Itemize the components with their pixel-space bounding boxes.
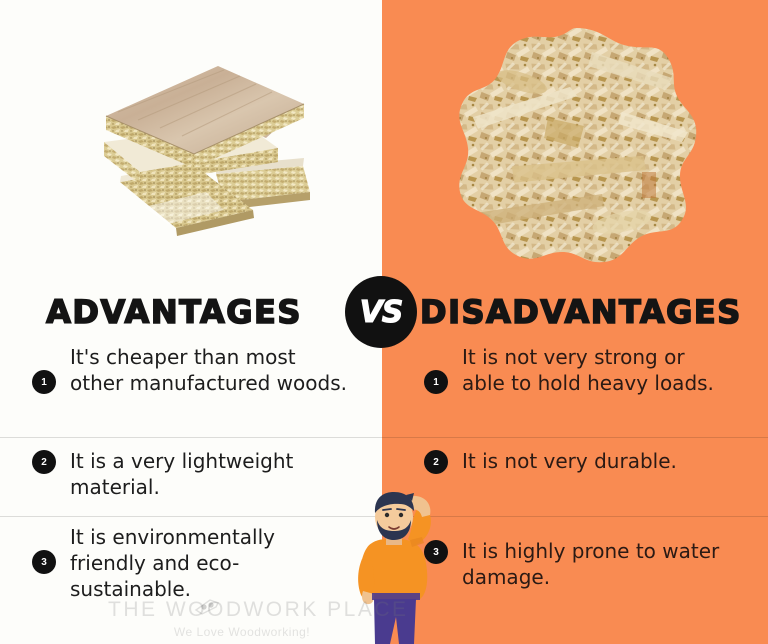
item-number-badge: 3 [32,550,56,574]
item-text: It is environmentally friendly and eco-s… [70,524,352,602]
item-number-badge: 2 [424,450,448,474]
item-number-badge: 2 [32,450,56,474]
man-scratching-head-illustration [344,487,448,644]
item-number-badge: 1 [32,370,56,394]
list-item: 2 It is a very lightweight material. [32,448,352,500]
list-item: 1 It's cheaper than most other manufactu… [32,344,352,396]
item-text: It is not very durable. [462,448,677,474]
infographic-canvas: ADVANTAGES VS DISADVANTAGES 1 It's cheap… [0,0,768,644]
list-item: 3 It is environmentally friendly and eco… [32,524,352,602]
item-text: It is a very lightweight material. [70,448,352,500]
item-text: It is not very strong or able to hold he… [462,344,724,396]
item-number-badge: 1 [424,370,448,394]
item-text: It's cheaper than most other manufacture… [70,344,352,396]
disadvantages-heading: DISADVANTAGES [420,286,750,338]
list-item: 3 It is highly prone to water damage. [424,538,724,590]
list-item: 1 It is not very strong or able to hold … [424,344,724,396]
list-item: 2 It is not very durable. [424,448,724,474]
vs-badge: VS [345,276,417,348]
osb-board-image [452,22,700,270]
row-separator-1 [0,437,768,438]
item-text: It is highly prone to water damage. [462,538,724,590]
particleboard-image [48,42,338,267]
advantages-heading: ADVANTAGES [0,286,348,338]
